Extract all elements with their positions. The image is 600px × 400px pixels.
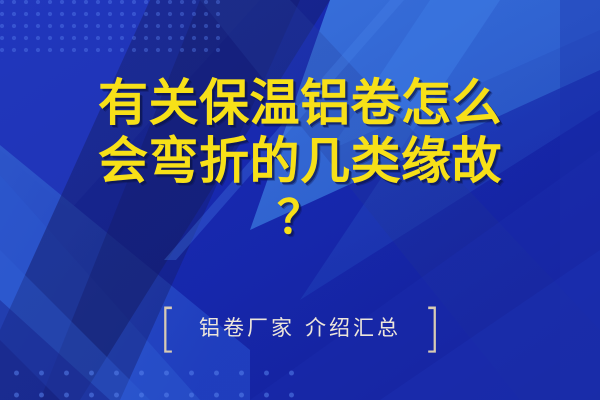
subtitle-part-2: 介绍汇总 [305,316,401,340]
bracket-right-icon: ] [423,302,441,354]
subtitle-text: 铝卷厂家介绍汇总 [199,313,401,343]
bracket-left-icon: [ [159,302,177,354]
headline-block: 有关保温铝卷怎么 会弯折的几类缘故 ？ [0,74,600,244]
headline-line-1: 有关保温铝卷怎么 [0,74,600,132]
promo-banner: 有关保温铝卷怎么 会弯折的几类缘故 ？ [ 铝卷厂家介绍汇总 ] [0,0,600,400]
headline-question-mark: ？ [0,190,600,244]
headline-line-2: 会弯折的几类缘故 [0,132,600,190]
subtitle-part-1: 铝卷厂家 [199,316,295,340]
subtitle-block: [ 铝卷厂家介绍汇总 ] [0,305,600,351]
